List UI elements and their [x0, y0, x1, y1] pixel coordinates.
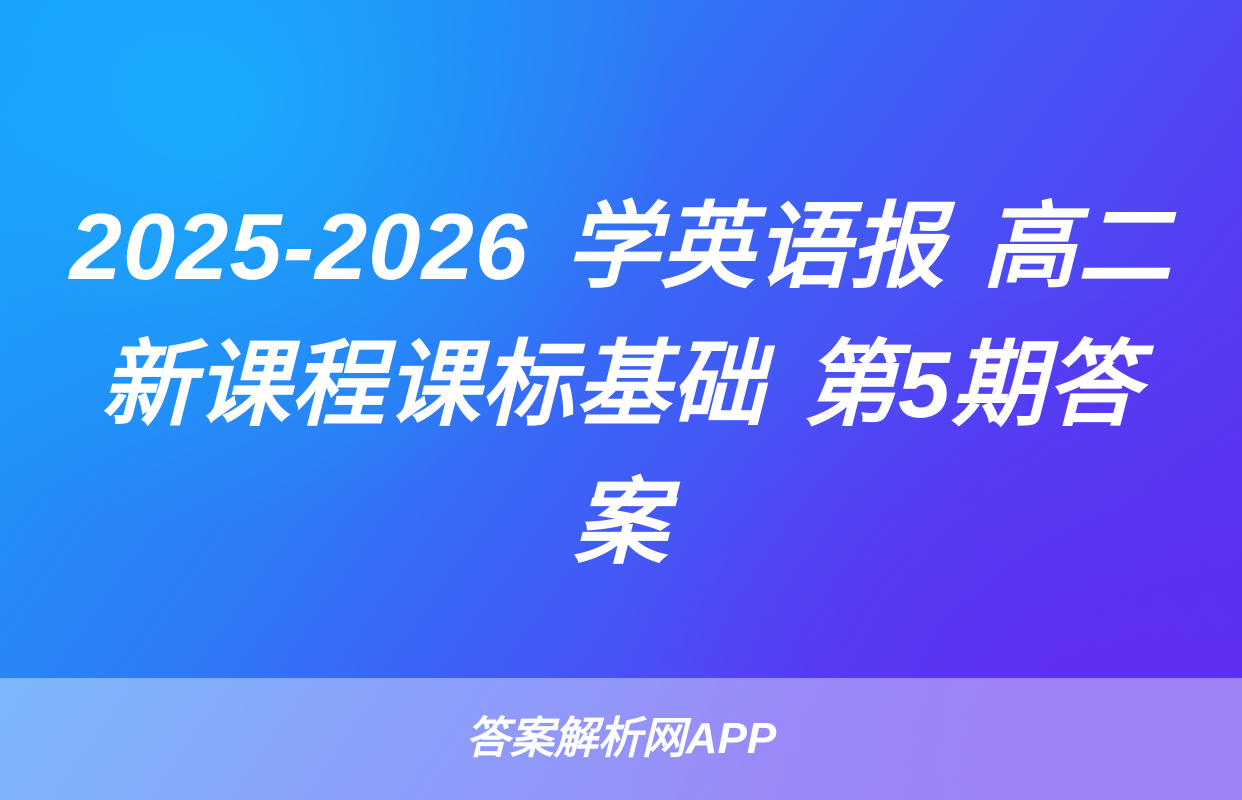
- share-card: 2025-2026 学英语报 高二 新课程课标基础 第5期答案 答案解析网APP: [0, 0, 1242, 800]
- page-title: 2025-2026 学英语报 高二 新课程课标基础 第5期答案: [62, 178, 1180, 592]
- headline-container: 2025-2026 学英语报 高二 新课程课标基础 第5期答案: [0, 178, 1242, 592]
- app-brand-label: 答案解析网APP: [466, 717, 776, 761]
- app-watermark-band: 答案解析网APP: [0, 678, 1242, 800]
